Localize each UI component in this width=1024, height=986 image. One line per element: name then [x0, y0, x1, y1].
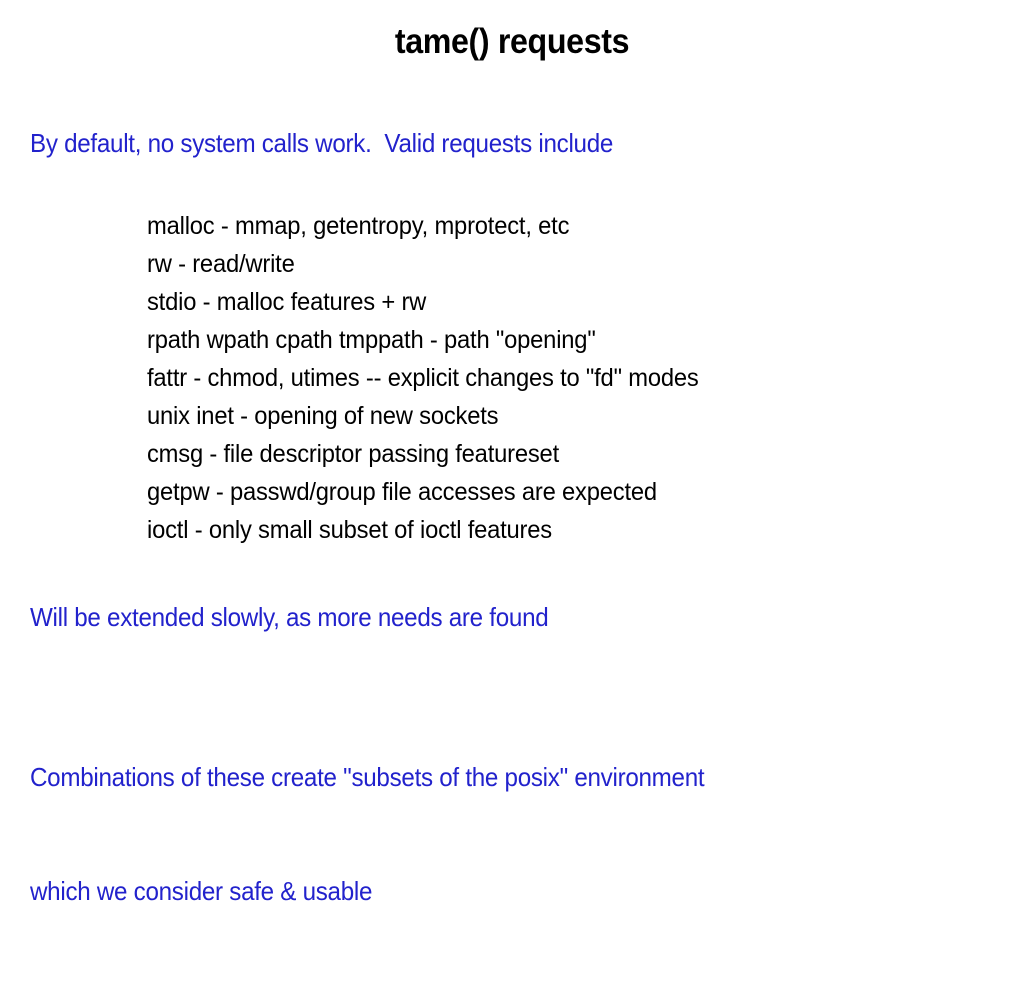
list-item: rw - read/write: [147, 245, 699, 283]
list-item: cmsg - file descriptor passing featurese…: [147, 435, 699, 473]
list-item: getpw - passwd/group file accesses are e…: [147, 473, 699, 511]
list-item: fattr - chmod, utimes -- explicit change…: [147, 359, 699, 397]
request-list: malloc - mmap, getentropy, mprotect, etc…: [147, 207, 699, 549]
list-item: unix inet - opening of new sockets: [147, 397, 699, 435]
list-item: rpath wpath cpath tmppath - path "openin…: [147, 321, 699, 359]
extension-note: Will be extended slowly, as more needs a…: [30, 602, 548, 633]
slide-canvas: tame() requests By default, no system ca…: [0, 0, 1024, 768]
closing-note-line-1: Combinations of these create "subsets of…: [30, 758, 704, 796]
list-item: stdio - malloc features + rw: [147, 283, 699, 321]
closing-note: Combinations of these create "subsets of…: [30, 682, 704, 986]
page-title: tame() requests: [41, 22, 983, 62]
list-item: malloc - mmap, getentropy, mprotect, etc: [147, 207, 699, 245]
closing-note-line-2: which we consider safe & usable: [30, 872, 704, 910]
intro-text: By default, no system calls work. Valid …: [30, 128, 613, 159]
list-item: ioctl - only small subset of ioctl featu…: [147, 511, 699, 549]
